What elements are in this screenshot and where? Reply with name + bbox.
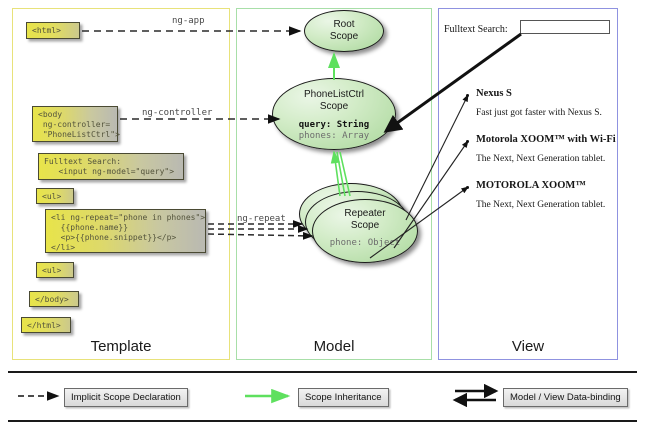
repeater-scope-prop-phone: phone: Object — [313, 238, 417, 249]
root-scope-label-line2: Scope — [305, 31, 383, 43]
view-list-bullet — [466, 140, 469, 143]
view-search-label: Fulltext Search: — [444, 24, 508, 35]
fulltext-search-box: Fulltext Search: <input ng-model="query"… — [38, 153, 184, 180]
legend-top-rule — [8, 371, 637, 373]
legend-bottom-rule — [8, 420, 637, 422]
view-item-title: MOTOROLA XOOM™ — [476, 180, 586, 191]
view-list-bullet — [466, 94, 469, 97]
body-controller-box: <body ng-controller= "PhoneListCtrl"> — [32, 106, 118, 142]
phonelistctrl-scope-prop-query: query: String — [273, 120, 395, 131]
panel-title-model: Model — [237, 338, 431, 355]
root-scope-label-line1: Root — [305, 19, 383, 31]
html-close-box: </html> — [21, 317, 71, 333]
view-item-snippet: The Next, Next Generation tablet. — [476, 154, 605, 164]
phonelistctrl-scope-label-line1: PhoneListCtrl — [273, 89, 395, 101]
edge-label-ng-app: ng-app — [172, 16, 205, 26]
repeater-scope-ellipse: Repeater Scope phone: Object — [312, 199, 418, 263]
legend-arrow-double — [455, 391, 496, 400]
repeater-scope-label-line1: Repeater — [313, 208, 417, 220]
view-search-input[interactable] — [520, 20, 610, 34]
ul-close-box: <ul> — [36, 262, 74, 278]
phonelistctrl-scope-ellipse: PhoneListCtrl Scope query: String phones… — [272, 78, 396, 150]
panel-title-view: View — [439, 338, 617, 355]
phonelistctrl-scope-prop-phones: phones: Array — [273, 131, 395, 142]
edge-label-ng-controller: ng-controller — [142, 108, 212, 118]
diagram-root: Template Model View <html> <body ng-cont… — [0, 0, 645, 425]
body-close-box: </body> — [29, 291, 79, 307]
ul-open-box: <ul> — [36, 188, 74, 204]
legend-model-view-data-binding: Model / View Data-binding — [503, 388, 628, 407]
view-item-title: Motorola XOOM™ with Wi-Fi — [476, 134, 616, 145]
view-item-title: Nexus S — [476, 88, 512, 99]
legend-scope-inheritance: Scope Inheritance — [298, 388, 389, 407]
panel-title-template: Template — [13, 338, 229, 355]
li-ngrepeat-box: <li ng-repeat="phone in phones"> {{phone… — [45, 209, 206, 253]
phonelistctrl-scope-label-line2: Scope — [273, 101, 395, 113]
legend-implicit-scope-declaration: Implicit Scope Declaration — [64, 388, 188, 407]
edge-label-ng-repeat: ng-repeat — [237, 214, 286, 224]
html-open-box: <html> — [26, 22, 80, 39]
view-item-snippet: Fast just got faster with Nexus S. — [476, 108, 602, 118]
view-item-snippet: The Next, Next Generation tablet. — [476, 200, 605, 210]
repeater-scope-label-line2: Scope — [313, 220, 417, 232]
panel-template: Template — [12, 8, 230, 360]
root-scope-ellipse: Root Scope — [304, 10, 384, 52]
view-list-bullet — [466, 186, 469, 189]
